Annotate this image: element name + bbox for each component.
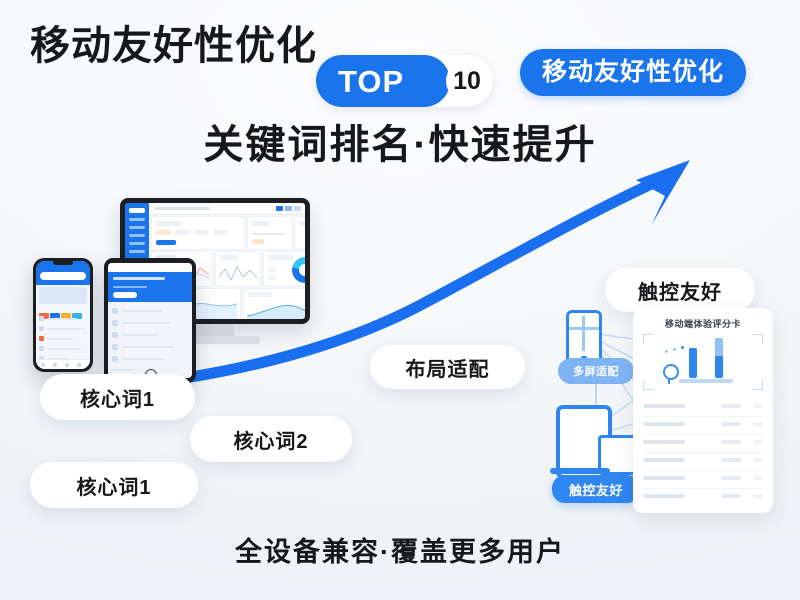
- page-title: 移动友好性优化: [30, 26, 317, 66]
- top-badge-number: 10: [453, 69, 481, 94]
- keyword-pill-3[interactable]: 核心词1: [30, 462, 198, 508]
- tablet-mockup: [104, 258, 196, 383]
- diagram-laptop-base: [550, 468, 610, 474]
- scorecard-title: 移动端体验评分卡: [633, 317, 773, 330]
- phone-search-bar: [40, 272, 86, 280]
- hero-bar-2: [715, 338, 723, 378]
- diagram-phone-icon: [566, 310, 602, 364]
- top-badge-number-circle: 10: [446, 60, 488, 102]
- keyword-pill-2[interactable]: 核心词2: [190, 416, 352, 462]
- header-tag-pill: 移动友好性优化: [520, 49, 746, 96]
- phone-mockup: [33, 258, 93, 372]
- mobile-scorecard-diagram: 多屏适配 触控友好 移动端体验评分卡: [548, 300, 783, 515]
- scorecard-rows: [643, 398, 763, 505]
- diagram-pill-touch[interactable]: 触控友好: [552, 475, 640, 503]
- scorecard-row: [643, 470, 763, 489]
- scorecard-hero-illustration: [643, 334, 763, 390]
- keyword-pill-1[interactable]: 核心词1: [40, 374, 195, 420]
- scorecard-row: [643, 488, 763, 506]
- phone-screen: [36, 261, 90, 369]
- diagram-vertical-connector: [595, 384, 597, 405]
- top-badge-blue-fill: TOP: [316, 55, 450, 107]
- footer-tagline: 全设备兼容·覆盖更多用户: [0, 530, 800, 569]
- poster-canvas: 移动友好性优化 TOP 10 移动友好性优化 关键词排名·快速提升: [0, 0, 800, 600]
- diagram-pill-multiscreen[interactable]: 多屏适配: [558, 358, 634, 384]
- top-badge-word: TOP: [338, 66, 404, 97]
- phone-promo-banner: [39, 287, 87, 304]
- phone-tab-bar: [36, 359, 90, 369]
- device-mockups: [28, 186, 328, 386]
- feature-pill-layout[interactable]: 布局适配: [370, 345, 525, 389]
- tablet-screen: [108, 263, 192, 378]
- scorecard-row: [643, 398, 763, 417]
- scorecard-row: [643, 434, 763, 453]
- scorecard-panel: 移动端体验评分卡: [633, 308, 773, 513]
- scorecard-row: [643, 416, 763, 435]
- tablet-banner: [108, 272, 192, 302]
- top-10-badge: TOP 10: [316, 55, 493, 107]
- dashboard-topbar: [149, 203, 305, 215]
- phone-category-tabs: [39, 306, 87, 312]
- hero-bar-1: [689, 348, 697, 378]
- scorecard-row: [643, 452, 763, 471]
- insight-bulb-icon: [663, 364, 679, 380]
- header-tag-label: 移动友好性优化: [542, 60, 724, 85]
- phone-notch: [53, 260, 73, 265]
